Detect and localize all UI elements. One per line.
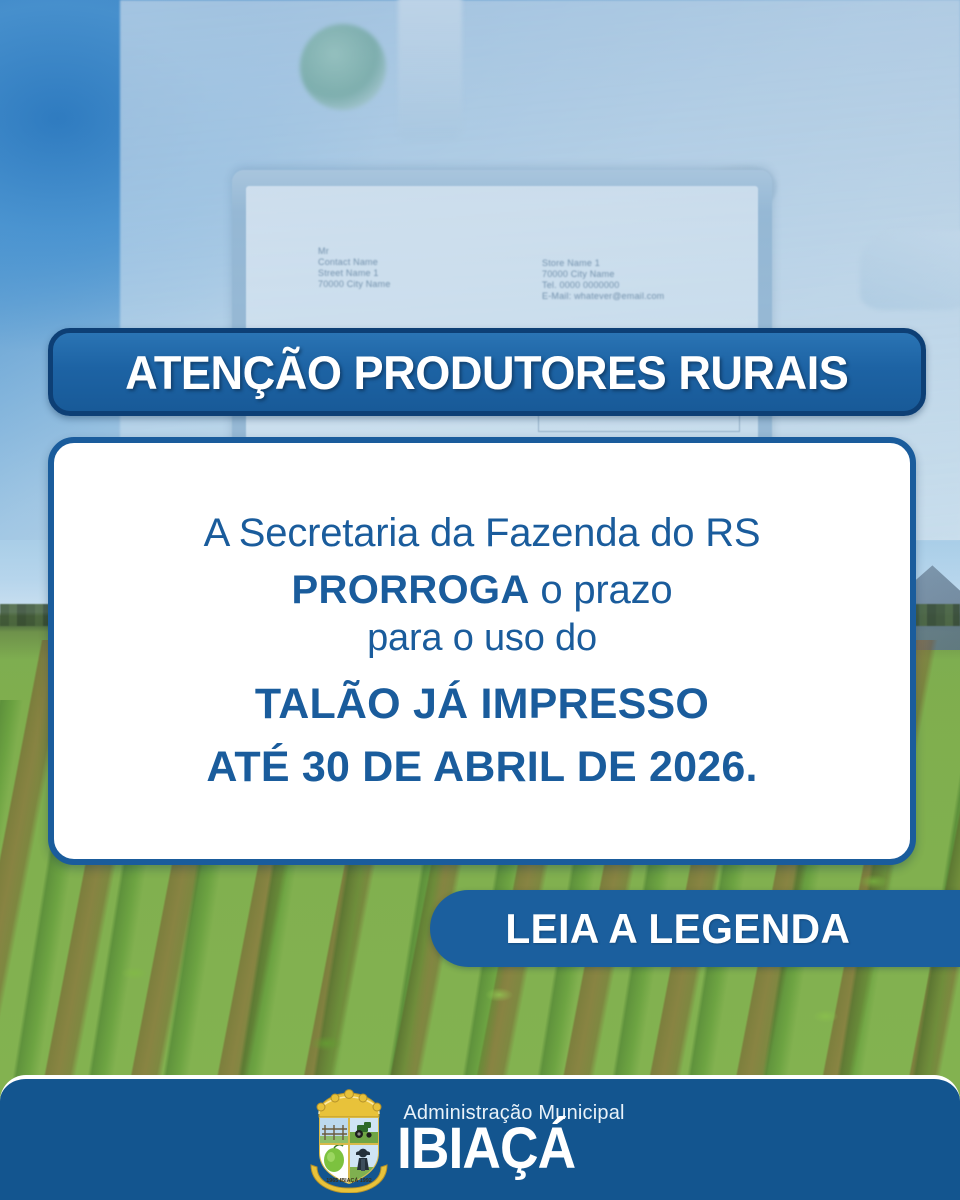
invoice-sender-block: Mr Contact Name Street Name 1 70000 City…: [318, 246, 391, 290]
card-line-4: TALÃO JÁ IMPRESSO: [255, 680, 709, 729]
brand-name: IBIAÇÁ: [397, 1121, 606, 1177]
laptop: Mr Contact Name Street Name 1 70000 City…: [232, 170, 772, 470]
hand-object: [860, 230, 960, 310]
brand-lockup: Administração Municipal IBIAÇÁ: [397, 1102, 624, 1177]
announcement-card: A Secretaria da Fazenda do RS PRORROGA o…: [48, 437, 916, 865]
crest-ribbon-text: 1965 IBIAÇÁ 1992: [327, 1177, 373, 1184]
card-line-1: A Secretaria da Fazenda do RS: [204, 511, 761, 556]
cup-object: [398, 0, 462, 140]
card-line-2: PRORROGA o prazo: [292, 568, 673, 613]
title-banner: ATENÇÃO PRODUTORES RURAIS: [48, 328, 926, 416]
card-line-5: ATÉ 30 DE ABRIL DE 2026.: [206, 743, 757, 792]
footer-bar: 1965 IBIAÇÁ 1992 Administração Municipal…: [0, 1075, 960, 1200]
poster: Mr Contact Name Street Name 1 70000 City…: [0, 0, 960, 1200]
invoice-recipient-block: Store Name 1 70000 City Name Tel. 0000 0…: [542, 258, 664, 302]
title-banner-text: ATENÇÃO PRODUTORES RURAIS: [125, 345, 848, 400]
plate-object: [300, 24, 386, 110]
card-line-2-emphasis: PRORROGA: [292, 568, 530, 612]
coat-of-arms-icon: 1965 IBIAÇÁ 1992: [307, 1087, 391, 1193]
card-line-3: para o uso do: [367, 617, 597, 660]
read-caption-label: LEIA A LEGENDA: [506, 905, 851, 953]
card-line-2-rest: o prazo: [530, 568, 673, 612]
read-caption-button[interactable]: LEIA A LEGENDA: [430, 890, 960, 967]
